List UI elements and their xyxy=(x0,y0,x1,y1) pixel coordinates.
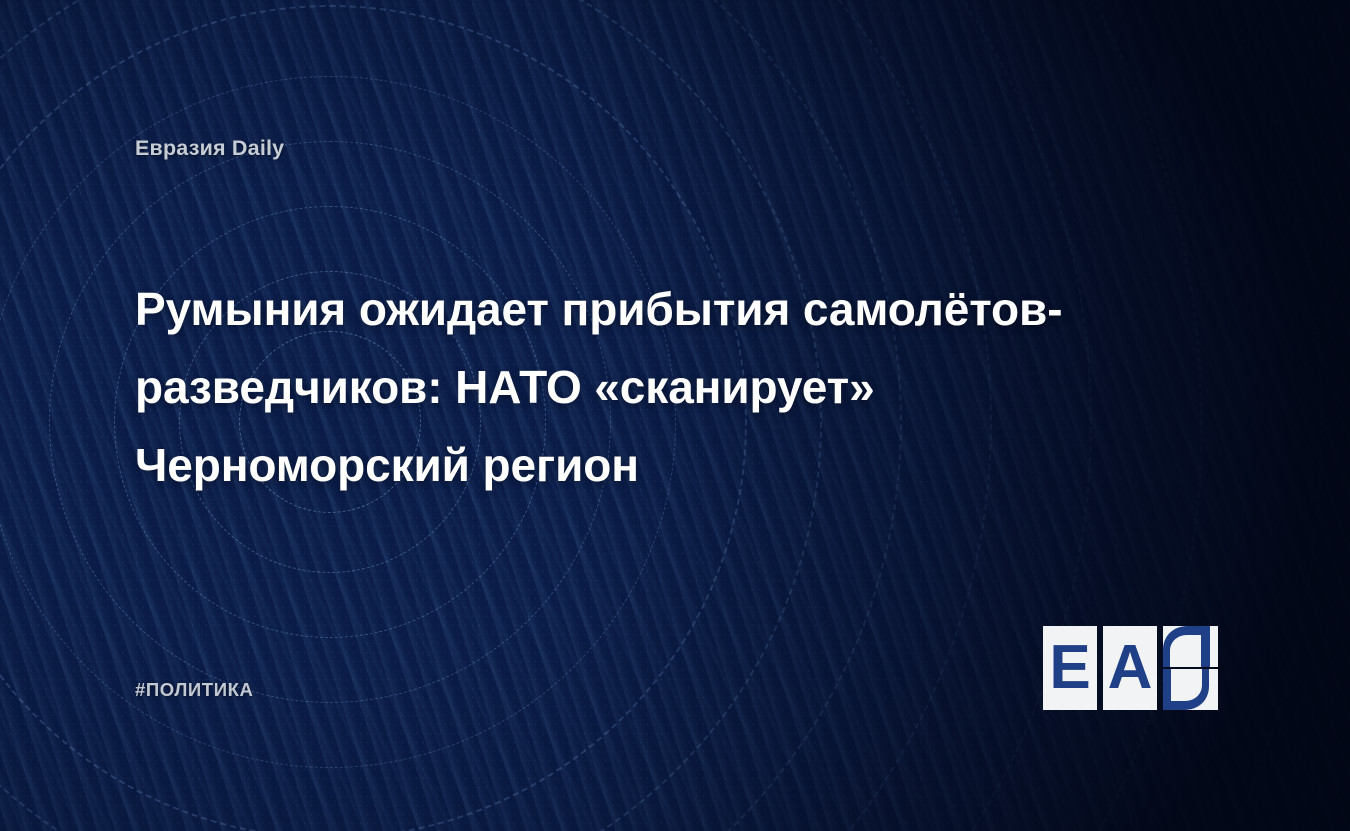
logo-letter-a: A xyxy=(1108,637,1153,699)
logo-tile-d-upper xyxy=(1163,626,1218,667)
logo-tile-a: A xyxy=(1103,626,1157,710)
logo-half-d-upper-icon xyxy=(1163,626,1218,667)
logo-tile-d-column xyxy=(1163,626,1218,710)
category-hashtag[interactable]: #ПОЛИТИКА xyxy=(135,679,253,701)
logo-letter-e: E xyxy=(1049,637,1090,699)
logo-half-d-lower-icon xyxy=(1163,669,1218,710)
brand-name: Евразия Daily xyxy=(135,136,284,161)
logo-tile-e: E xyxy=(1043,626,1097,710)
page-title: Румыния ожидает прибытия самолётов-разве… xyxy=(135,270,1110,504)
share-card: Евразия Daily Румыния ожидает прибытия с… xyxy=(0,0,1350,831)
card-content: Евразия Daily Румыния ожидает прибытия с… xyxy=(0,0,1350,831)
logo-tile-d-lower xyxy=(1163,669,1218,710)
eadaily-logo[interactable]: E A xyxy=(1043,626,1224,710)
